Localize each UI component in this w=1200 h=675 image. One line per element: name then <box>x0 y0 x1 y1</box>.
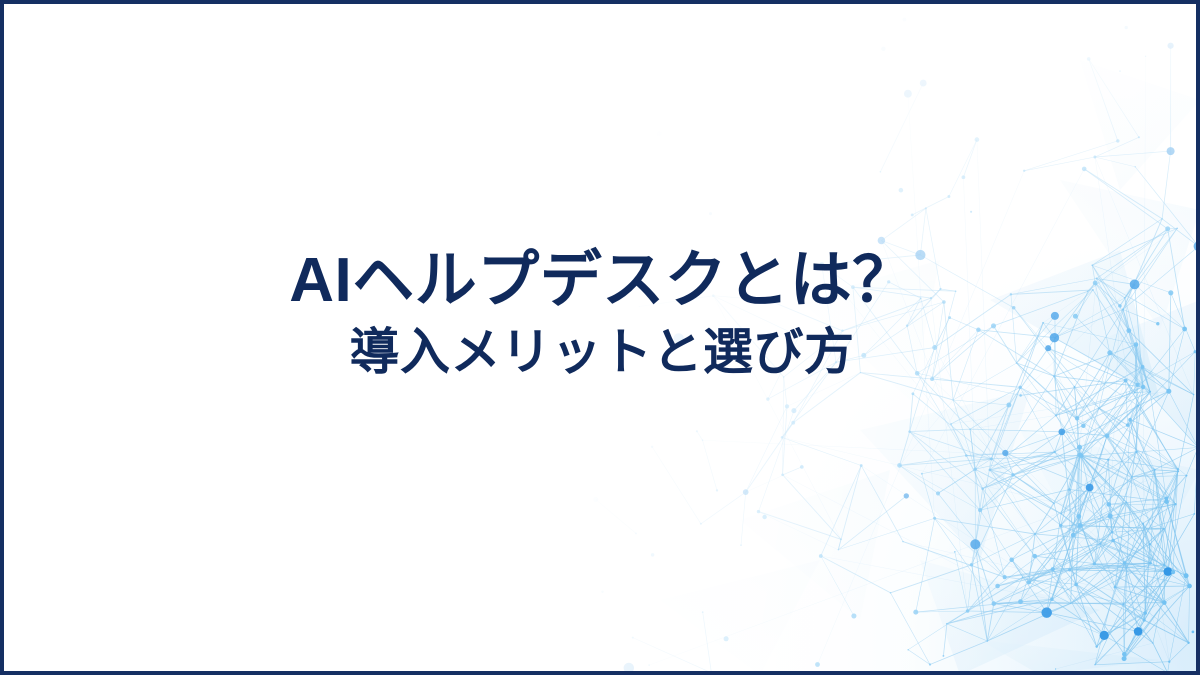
title-block: AIヘルプデスクとは？ 導入メリットと選び方 <box>0 248 1200 379</box>
title-slide: AIヘルプデスクとは？ 導入メリットと選び方 <box>0 0 1200 675</box>
page-title: AIヘルプデスクとは？ <box>4 248 1200 313</box>
page-subtitle: 導入メリットと選び方 <box>4 325 1200 379</box>
